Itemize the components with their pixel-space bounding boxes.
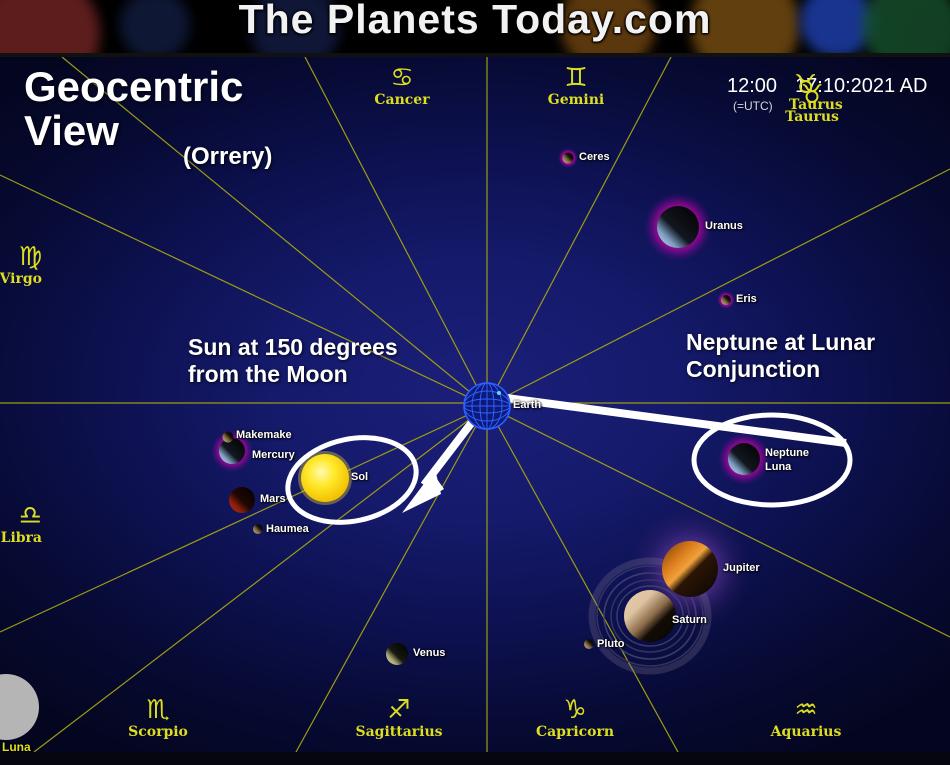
- footer-bar: [0, 752, 950, 765]
- pluto-disc: [584, 639, 594, 649]
- zodiac-label-libra[interactable]: ♎Libra: [0, 503, 42, 546]
- libra-glyph-icon: ♎: [0, 503, 42, 529]
- venus-disc: [386, 643, 408, 665]
- zodiac-label-gemini[interactable]: ♊Gemini: [526, 65, 626, 108]
- neptune-disc: [728, 443, 760, 475]
- capricorn-glyph-icon: ♑: [525, 697, 625, 723]
- orrery-canvas[interactable]: Geocentric View (Orrery) 12:0017:10:2021…: [0, 57, 950, 752]
- zodiac-label-virgo[interactable]: ♍Virgo: [0, 244, 42, 287]
- planet-label-earth[interactable]: Earth: [513, 399, 541, 413]
- sagittarius-glyph-icon: ♐: [349, 697, 449, 723]
- sol-disc: [301, 454, 349, 502]
- site-banner: The Planets Today.com: [0, 0, 950, 57]
- planet-label-ceres[interactable]: Ceres: [579, 151, 610, 165]
- zodiac-name: Scorpio: [108, 724, 208, 740]
- jupiter-disc: [662, 541, 718, 597]
- uranus-disc: [657, 206, 699, 248]
- planet-label-makemake[interactable]: Makemake: [236, 429, 292, 443]
- zodiac-label-sagittarius[interactable]: ♐Sagittarius: [349, 697, 449, 740]
- orrery-vector-overlay: [0, 57, 950, 752]
- planet-label-pluto[interactable]: Pluto: [597, 638, 625, 652]
- zodiac-label-aquarius[interactable]: ♒Aquarius: [756, 697, 856, 740]
- gemini-glyph-icon: ♊: [526, 65, 626, 91]
- zodiac-name: Libra: [0, 530, 42, 546]
- cancer-glyph-icon: ♋: [352, 65, 452, 91]
- planet-label-sol[interactable]: Sol: [351, 471, 368, 485]
- planet-label-mars[interactable]: Mars: [260, 493, 286, 507]
- planet-label-uranus[interactable]: Uranus: [705, 220, 743, 234]
- page-title: Geocentric View: [24, 65, 243, 153]
- saturn-disc: [624, 590, 676, 642]
- luna-foreground-label: Luna: [2, 740, 31, 752]
- zodiac-label-scorpio[interactable]: ♏Scorpio: [108, 697, 208, 740]
- page-subtitle: (Orrery): [183, 143, 272, 171]
- taurus-glyph-icon: ♉: [762, 82, 862, 108]
- planet-label-saturn[interactable]: Saturn: [672, 614, 707, 628]
- callout-sun-angle: Sun at 150 degrees from the Moon: [188, 334, 398, 388]
- site-title: The Planets Today.com: [0, 0, 950, 43]
- zodiac-name: Taurus: [762, 109, 862, 125]
- planet-label-mercury[interactable]: Mercury: [252, 449, 295, 463]
- planet-label-neptune[interactable]: Neptune Luna: [765, 447, 809, 475]
- zodiac-name: Cancer: [352, 92, 452, 108]
- zodiac-name: Aquarius: [756, 724, 856, 740]
- mars-disc: [229, 487, 255, 513]
- planet-label-venus[interactable]: Venus: [413, 647, 445, 661]
- earth-wireframe-globe: [464, 383, 510, 429]
- zodiac-name: Gemini: [526, 92, 626, 108]
- makemake-disc: [223, 432, 234, 443]
- virgo-glyph-icon: ♍: [0, 244, 42, 270]
- eris-disc: [721, 295, 731, 305]
- zodiac-label-taurus[interactable]: ♉Taurus: [762, 82, 862, 125]
- planets-today-orrery-screenshot: The Planets Today.com: [0, 0, 950, 765]
- zodiac-name: Capricorn: [525, 724, 625, 740]
- zodiac-label-capricorn[interactable]: ♑Capricorn: [525, 697, 625, 740]
- aquarius-glyph-icon: ♒: [756, 697, 856, 723]
- haumea-disc: [253, 524, 263, 534]
- zodiac-name: Virgo: [0, 271, 42, 287]
- luna-foreground-disc: [0, 674, 39, 740]
- zodiac-label-cancer[interactable]: ♋Cancer: [352, 65, 452, 108]
- scorpio-glyph-icon: ♏: [108, 697, 208, 723]
- ceres-disc: [563, 153, 574, 164]
- planet-label-jupiter[interactable]: Jupiter: [723, 562, 760, 576]
- planet-label-haumea[interactable]: Haumea: [266, 523, 309, 537]
- planet-label-eris[interactable]: Eris: [736, 293, 757, 307]
- zodiac-name: Sagittarius: [349, 724, 449, 740]
- callout-neptune-conjunction: Neptune at Lunar Conjunction: [686, 329, 875, 383]
